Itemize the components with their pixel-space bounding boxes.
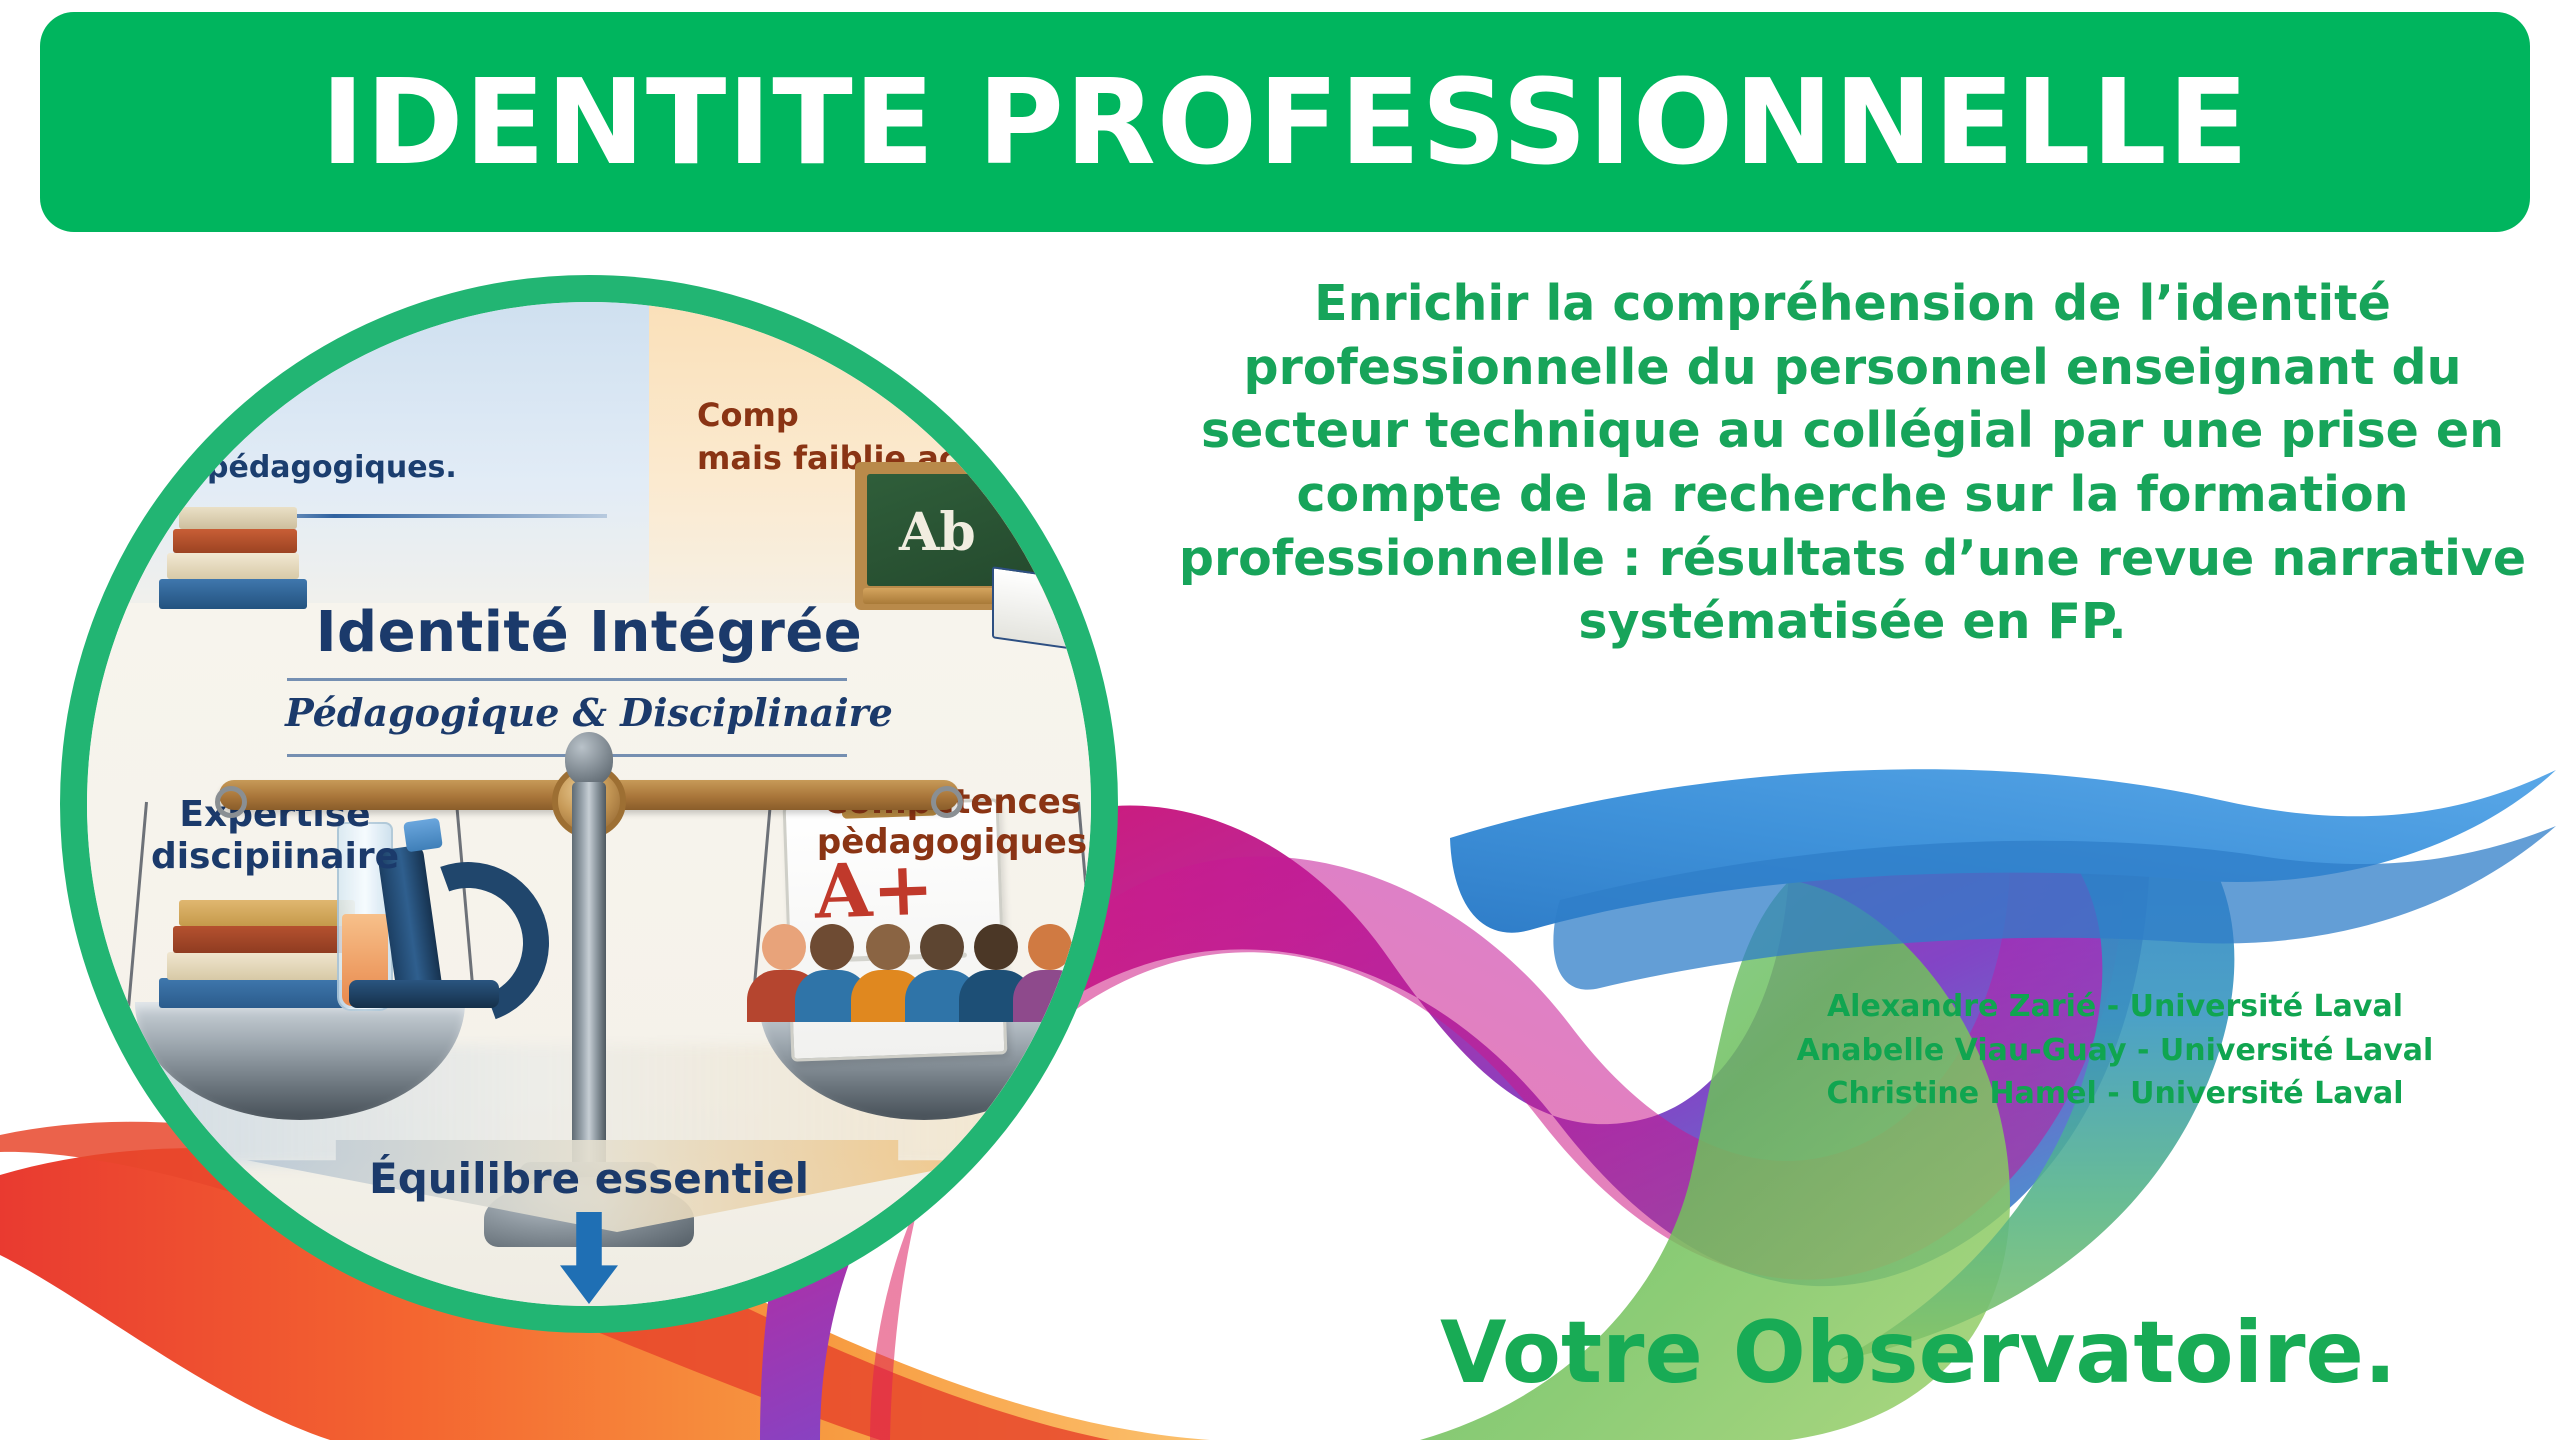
scale-knob <box>565 732 613 786</box>
microscope-base <box>349 980 499 1008</box>
poster-canvas: IDENTITE PROFESSIONNELLE pédagogiques. C… <box>0 0 2560 1440</box>
scale-label-left-line2: discipiinaire <box>145 836 405 878</box>
illustration-circle: pédagogiques. Comp mais faiblie ac Ab <box>60 275 1118 1333</box>
author-3: Christine Hamel - Université Laval <box>1700 1072 2530 1116</box>
page-title: IDENTITE PROFESSIONNELLE <box>321 63 2250 181</box>
grade-label: A+ <box>813 852 935 930</box>
authors-list: Alexandre Zarié - Université Laval Anabe… <box>1700 985 2530 1116</box>
illustration-rule-a <box>287 678 847 681</box>
author-2: Anabelle Viau-Guay - Université Laval <box>1700 1029 2530 1073</box>
illustration-fragment-right-line1: Comp <box>697 394 958 437</box>
scale-label-right-line2: pèdagogiques <box>807 822 1091 862</box>
people-group-icon <box>747 930 1077 1022</box>
illustration-subheading: Pédagogique & Disciplinaire <box>87 690 1091 735</box>
illustration-content: pédagogiques. Comp mais faiblie ac Ab <box>87 302 1091 1306</box>
chalkboard-text: Ab <box>899 502 976 563</box>
microscope-eyepiece-icon <box>403 818 443 853</box>
balance-arrow-text: Équilibre essentiel <box>87 1154 1091 1203</box>
author-1: Alexandre Zarié - Université Laval <box>1700 985 2530 1029</box>
book-stack-icon <box>159 507 309 609</box>
title-banner: IDENTITE PROFESSIONNELLE <box>40 12 2530 232</box>
illustration-fragment-left: pédagogiques. <box>207 450 457 485</box>
lede-paragraph: Enrichir la compréhension de l’identité … <box>1175 272 2530 654</box>
illustration-heading: Identité Intégrée <box>87 600 1091 665</box>
brand-wordmark: Votre Observatoire. <box>1440 1310 2520 1396</box>
